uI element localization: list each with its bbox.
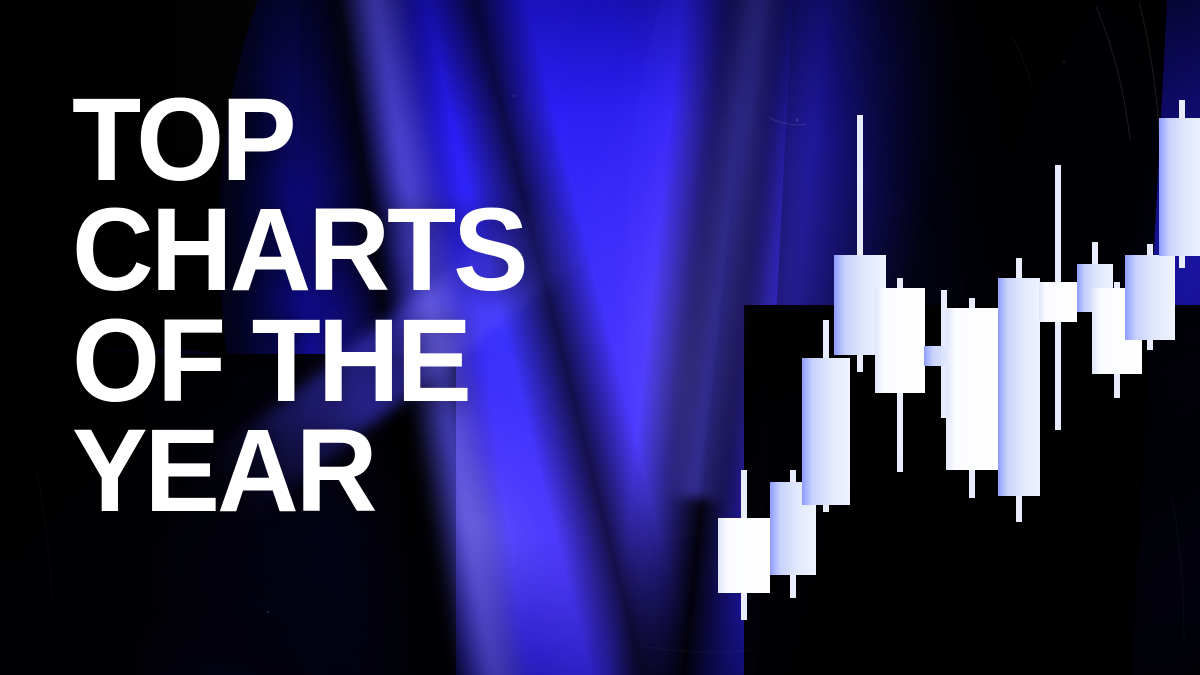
page-title: TOP CHARTS OF THE YEAR <box>72 85 544 526</box>
thumbnail-canvas: TOP CHARTS OF THE YEAR <box>0 0 1200 675</box>
headline-line-1: TOP <box>72 85 526 195</box>
headline-line-4: YEAR <box>72 416 526 526</box>
fabric-fold-bottom-right-shadow <box>744 305 1200 675</box>
headline-line-2: CHARTS <box>72 195 526 305</box>
headline-line-3: OF THE <box>72 306 526 416</box>
